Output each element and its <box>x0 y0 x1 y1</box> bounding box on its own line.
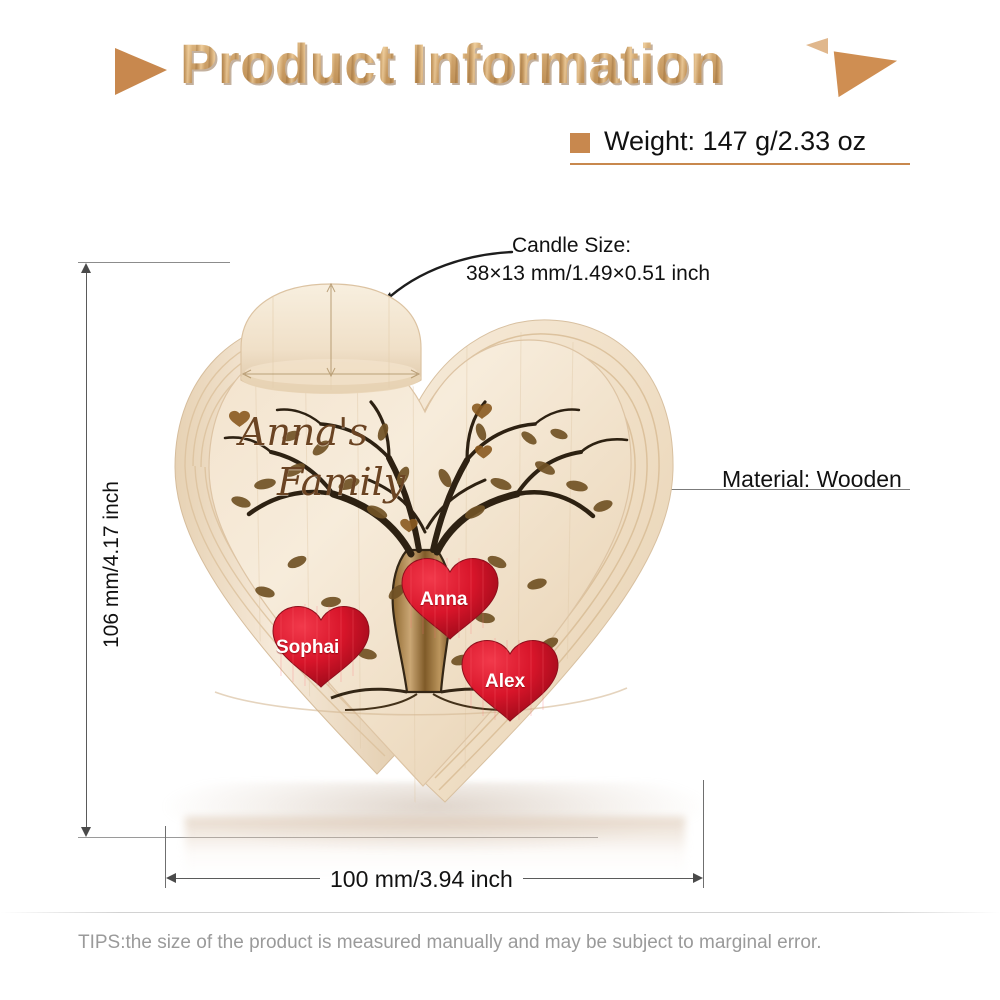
heart-label-alex: Alex <box>485 671 525 693</box>
triangle-left-small-icon <box>806 38 828 54</box>
material-label: Material: Wooden <box>722 466 902 493</box>
width-arrow-right-icon <box>693 873 703 883</box>
height-arrow-bottom-icon <box>81 827 91 837</box>
height-arrow-top-icon <box>81 263 91 273</box>
candle-size-line1: Candle Size: <box>512 234 631 258</box>
engraving-line-1: Anna's <box>239 410 368 454</box>
heart-wooden-box <box>145 262 725 862</box>
weight-label: Weight: 147 g/2.33 oz <box>604 126 866 157</box>
product-image: Anna's Family Sophai Anna Alex <box>145 262 725 862</box>
footer-divider <box>0 912 1000 913</box>
weight-underline <box>570 163 910 165</box>
width-arrow-left-icon <box>166 873 176 883</box>
page-title: Product Information <box>180 36 725 92</box>
triangle-right-icon-right <box>834 45 900 97</box>
triangle-right-icon-left <box>115 48 167 95</box>
tips-note: TIPS:the size of the product is measured… <box>78 932 821 954</box>
heart-label-sophai: Sophai <box>276 637 339 659</box>
height-dimension-label: 106 mm/4.17 inch <box>100 481 124 648</box>
height-dimension-line <box>86 270 87 828</box>
engraving-line-2: Family <box>277 460 405 504</box>
square-bullet-icon <box>570 133 590 153</box>
box-reflection <box>185 817 685 877</box>
heart-label-anna: Anna <box>420 589 468 611</box>
candle-recess <box>241 282 421 394</box>
